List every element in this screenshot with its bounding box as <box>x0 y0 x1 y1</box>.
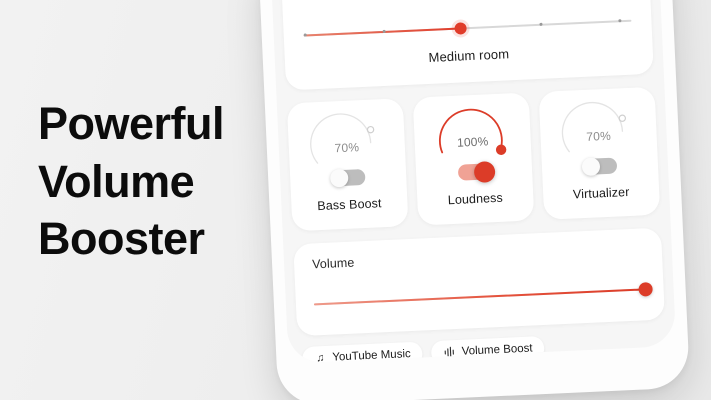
reverb-tick <box>304 34 307 37</box>
effect-card-virtualizer[interactable]: 70% Virtualizer <box>539 87 661 220</box>
promo-banner: Powerful Volume Booster Medium room <box>0 0 711 400</box>
bass-boost-label: Bass Boost <box>317 196 382 213</box>
loudness-gauge[interactable]: 100% <box>432 106 512 159</box>
bass-boost-toggle[interactable] <box>331 169 365 186</box>
virtualizer-gauge[interactable]: 70% <box>558 101 638 154</box>
virtualizer-label: Virtualizer <box>573 185 630 202</box>
effect-card-loudness[interactable]: 100% Loudness <box>413 92 535 225</box>
reverb-tick <box>618 19 621 22</box>
reverb-slider-thumb[interactable] <box>455 22 468 35</box>
toggle-knob <box>473 161 495 183</box>
volume-slider[interactable] <box>314 282 646 311</box>
music-note-icon: ♫ <box>314 352 327 364</box>
headline-line-3: Booster <box>38 210 288 268</box>
effects-row: 70% Bass Boost 100% <box>287 87 660 232</box>
headline-line-1: Powerful <box>38 95 288 153</box>
toggle-knob <box>581 157 600 176</box>
volume-slider-fill <box>314 288 646 305</box>
phone-screen: Medium room 70% Bass Boost <box>270 0 676 364</box>
reverb-tick <box>382 30 385 33</box>
virtualizer-toggle[interactable] <box>583 158 617 175</box>
phone-mockup: Medium room 70% Bass Boost <box>258 0 690 400</box>
loudness-label: Loudness <box>448 191 504 207</box>
volume-card: Volume <box>293 228 665 337</box>
effect-card-bass-boost[interactable]: 70% Bass Boost <box>287 98 409 231</box>
reverb-tick <box>540 23 543 26</box>
volume-slider-thumb[interactable] <box>638 282 653 297</box>
reverb-card: Medium room <box>281 0 654 90</box>
reverb-slider[interactable] <box>303 15 631 42</box>
headline-line-2: Volume <box>38 153 288 211</box>
page-title: Powerful Volume Booster <box>38 95 288 268</box>
bass-boost-gauge[interactable]: 70% <box>306 112 386 165</box>
volume-label: Volume <box>312 242 644 271</box>
toggle-knob <box>329 169 348 188</box>
reverb-preset-label: Medium room <box>285 40 653 72</box>
loudness-toggle[interactable] <box>457 163 491 180</box>
